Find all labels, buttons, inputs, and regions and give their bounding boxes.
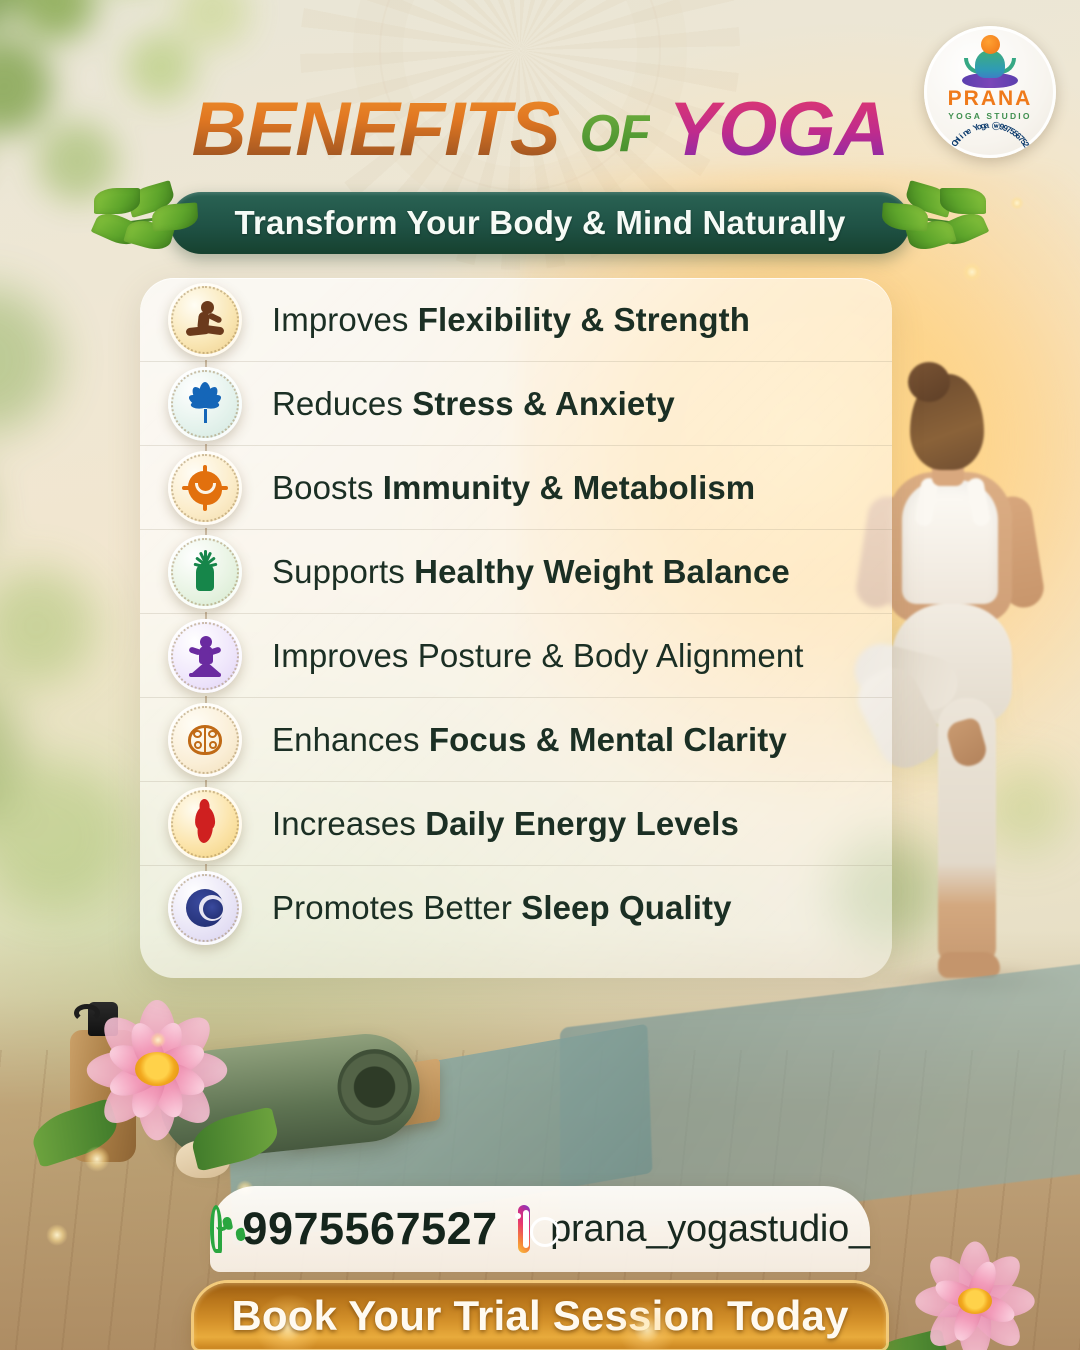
brain-icon	[184, 719, 226, 761]
title-benefits: BENEFITS	[192, 87, 560, 172]
subtitle-banner: Transform Your Body & Mind Naturally	[170, 192, 910, 254]
benefit-badge-4	[168, 535, 242, 609]
benefit-text-6: Enhances Focus & Mental Clarity	[272, 721, 787, 759]
list-item[interactable]: Promotes Better Sleep Quality	[140, 866, 892, 950]
benefit-text-4: Supports Healthy Weight Balance	[272, 553, 790, 591]
benefit-badge-6	[168, 703, 242, 777]
benefit-text-3: Boosts Immunity & Metabolism	[272, 469, 755, 507]
benefit-badge-3	[168, 451, 242, 525]
list-item[interactable]: Improves Posture & Body Alignment	[140, 614, 892, 698]
weight-balance-icon	[184, 551, 226, 593]
contact-bar: 9975567527 prana_yogastudio_	[210, 1186, 870, 1272]
benefit-badge-5	[168, 619, 242, 693]
moon-sleep-icon	[184, 887, 226, 929]
list-item[interactable]: Boosts Immunity & Metabolism	[140, 446, 892, 530]
benefit-badge-2	[168, 367, 242, 441]
benefit-badge-1	[168, 283, 242, 357]
page-title: BENEFITS OF YOGA	[0, 92, 1080, 168]
benefits-list: Improves Flexibility & Strength	[140, 278, 892, 950]
phone-number[interactable]: 9975567527	[242, 1203, 497, 1255]
list-item[interactable]: Supports Healthy Weight Balance	[140, 530, 892, 614]
cta-label: Book Your Trial Session Today	[231, 1292, 848, 1340]
benefit-text-5: Improves Posture & Body Alignment	[272, 637, 804, 675]
benefit-badge-8	[168, 871, 242, 945]
immunity-shield-icon	[184, 467, 226, 509]
instagram-icon[interactable]	[518, 1205, 530, 1253]
whatsapp-icon[interactable]	[210, 1205, 222, 1253]
list-item[interactable]: Reduces Stress & Anxiety	[140, 362, 892, 446]
leaf-sprig-left-icon	[94, 188, 198, 258]
lotus-leaf-icon	[184, 383, 226, 425]
subtitle-text: Transform Your Body & Mind Naturally	[234, 204, 845, 242]
benefit-text-8: Promotes Better Sleep Quality	[272, 889, 732, 927]
benefits-panel: Improves Flexibility & Strength	[140, 278, 892, 978]
list-item[interactable]: Improves Flexibility & Strength	[140, 278, 892, 362]
benefit-text-7: Increases Daily Energy Levels	[272, 805, 739, 843]
list-item[interactable]: Increases Daily Energy Levels	[140, 782, 892, 866]
list-item[interactable]: Enhances Focus & Mental Clarity	[140, 698, 892, 782]
meditating-figure-logo-icon	[961, 35, 1019, 85]
posture-alignment-icon	[184, 635, 226, 677]
benefit-text-2: Reduces Stress & Anxiety	[272, 385, 675, 423]
flame-energy-icon	[184, 803, 226, 845]
instagram-handle[interactable]: prana_yogastudio_	[550, 1208, 870, 1251]
subtitle-banner-wrap: Transform Your Body & Mind Naturally	[0, 192, 1080, 254]
leaf-sprig-right-icon	[882, 188, 986, 258]
benefit-text-1: Improves Flexibility & Strength	[272, 301, 750, 339]
book-trial-button[interactable]: Book Your Trial Session Today	[194, 1283, 886, 1349]
stretching-figure-icon	[184, 299, 226, 341]
benefit-badge-7	[168, 787, 242, 861]
title-of: OF	[580, 105, 650, 163]
title-yoga: YOGA	[669, 87, 889, 172]
